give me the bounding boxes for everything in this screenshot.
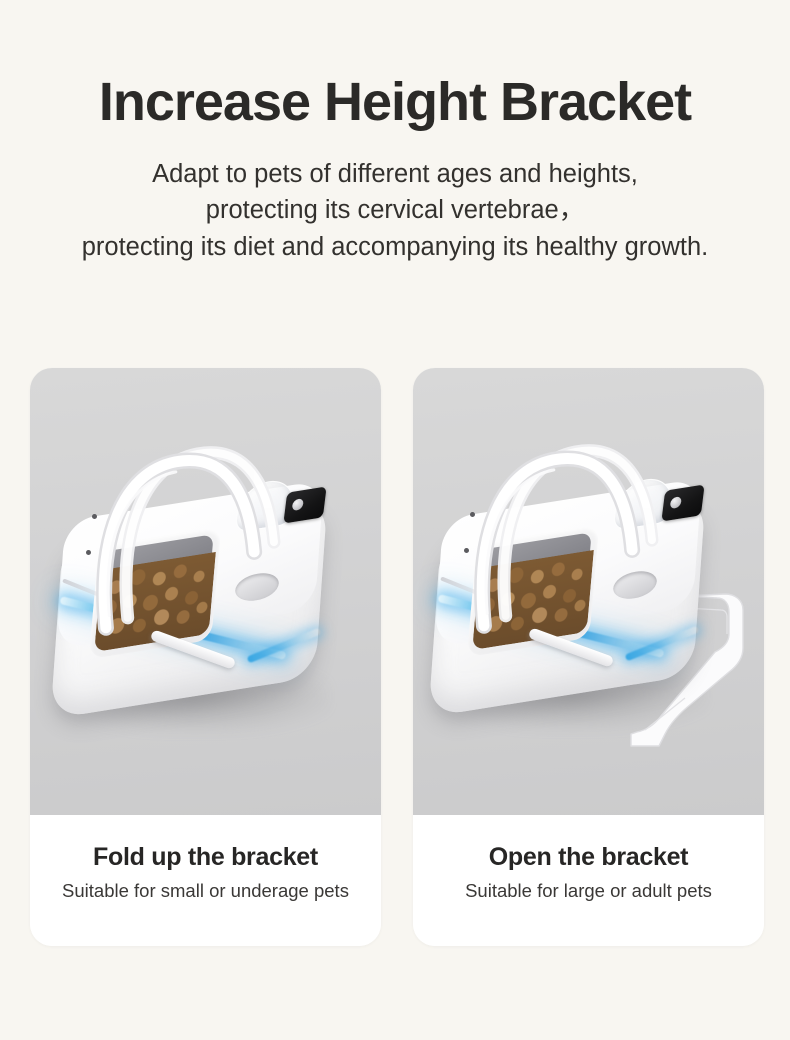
card-caption-fold-up: Fold up the bracket Suitable for small o… [30,815,381,946]
bracket-arch-front [460,428,646,633]
card-caption-open: Open the bracket Suitable for large or a… [413,815,764,946]
feature-card-open[interactable]: Open the bracket Suitable for large or a… [413,368,764,946]
hinge-pin-lower [464,548,469,553]
pet-feeder-device-extended [417,426,747,756]
page-subtitle: Adapt to pets of different ages and heig… [0,156,790,265]
page-header: Increase Height Bracket Adapt to pets of… [0,0,790,265]
caption-title: Open the bracket [489,843,688,872]
product-photo-extended [413,368,764,815]
subtitle-line-3: protecting its diet and accompanying its… [0,229,790,265]
feature-card-fold-up[interactable]: Fold up the bracket Suitable for small o… [30,368,381,946]
page-title: Increase Height Bracket [0,74,790,130]
hinge-pin-lower [86,550,91,555]
hinge-pin-upper [470,512,475,517]
feature-card-row: Fold up the bracket Suitable for small o… [30,368,764,946]
hinge-pin-upper [92,514,97,519]
subtitle-line-2: protecting its cervical vertebrae， [0,192,790,228]
caption-subtitle: Suitable for small or underage pets [62,880,349,902]
caption-subtitle: Suitable for large or adult pets [465,880,712,902]
caption-title: Fold up the bracket [93,843,318,872]
product-photo-folded [30,368,381,815]
subtitle-line-1: Adapt to pets of different ages and heig… [0,156,790,192]
bracket-arch-front [82,430,268,635]
pet-feeder-device-folded [39,428,369,758]
